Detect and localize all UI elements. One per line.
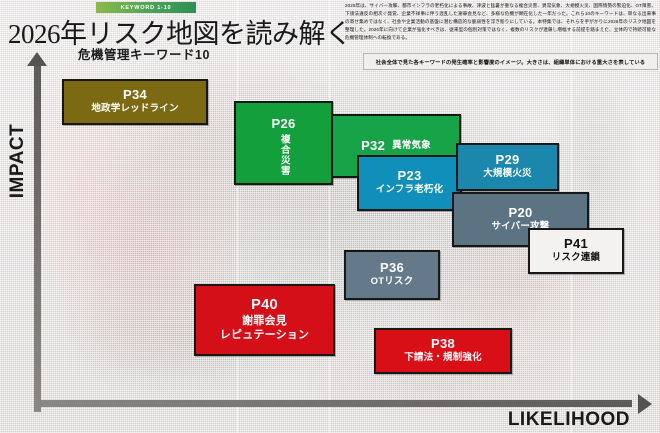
risk-card-keyword-line2: レピュテーション	[220, 328, 309, 342]
risk-card-id: P41	[564, 237, 588, 252]
risk-card-p29[interactable]: P29 大規模火災	[456, 143, 559, 191]
risk-card-keyword: 異常気象	[392, 140, 431, 152]
page-subtitle: 危機管理キーワード10	[78, 44, 210, 63]
risk-card-keyword: 大規模火災	[483, 168, 532, 180]
risk-card-p36[interactable]: P36 OTリスク	[344, 250, 440, 300]
likelihood-axis-label: LIKELIHOOD	[508, 409, 630, 431]
risk-card-id: P32	[361, 139, 385, 154]
impact-axis-arrow-icon	[27, 52, 47, 66]
risk-map-canvas: KEYWORD 1-10 2026年リスク地図を読み解く 危機管理キーワード10…	[0, 0, 660, 433]
risk-card-keyword-line1: 謝罪会見	[242, 314, 287, 328]
photo-seam	[237, 0, 238, 433]
risk-card-id: P40	[251, 297, 278, 314]
risk-card-p34[interactable]: P34 地政学レッドライン	[62, 79, 208, 125]
risk-card-p38[interactable]: P38 下請法・規制強化	[374, 328, 512, 374]
risk-card-id: P26	[271, 117, 295, 132]
risk-card-p40[interactable]: P40 謝罪会見 レピュテーション	[194, 284, 335, 356]
risk-card-keyword: OTリスク	[371, 276, 414, 288]
risk-card-p23[interactable]: P23 インフラ老朽化	[357, 155, 462, 211]
risk-card-keyword: 地政学レッドライン	[91, 103, 178, 115]
impact-axis-line	[34, 62, 41, 412]
risk-card-id: P36	[380, 261, 404, 276]
chart-caption-text: 社会全体で見た各キーワードの発生確率と影響度のイメージ。大きさは、組織単体におけ…	[376, 58, 645, 66]
photo-seam	[329, 0, 330, 433]
impact-axis-label: IMPACT	[7, 111, 29, 211]
likelihood-axis-line	[34, 400, 632, 407]
risk-card-keyword: 複合災害	[278, 134, 288, 176]
chart-caption-bar: 社会全体で見た各キーワードの発生確率と影響度のイメージ。大きさは、組織単体におけ…	[363, 53, 658, 70]
risk-card-p26[interactable]: P26 複合災害	[234, 101, 333, 185]
risk-card-id: P29	[495, 153, 519, 168]
risk-card-keyword: リスク連鎖	[552, 252, 601, 264]
risk-card-id: P34	[123, 88, 147, 103]
risk-card-id: P20	[508, 206, 532, 221]
risk-card-keyword: 下請法・規制強化	[404, 352, 482, 364]
risk-card-keyword: インフラ老朽化	[376, 184, 444, 196]
likelihood-axis-arrow-icon	[638, 394, 652, 414]
risk-card-id: P23	[397, 169, 421, 184]
risk-card-p41[interactable]: P41 リスク連鎖	[528, 228, 624, 274]
lede-paragraph: 2025年は、サイバー攻撃、都市インフラの老朽化による事故、津波と猛暑が重なる複…	[345, 2, 656, 41]
risk-card-id: P38	[431, 337, 455, 352]
